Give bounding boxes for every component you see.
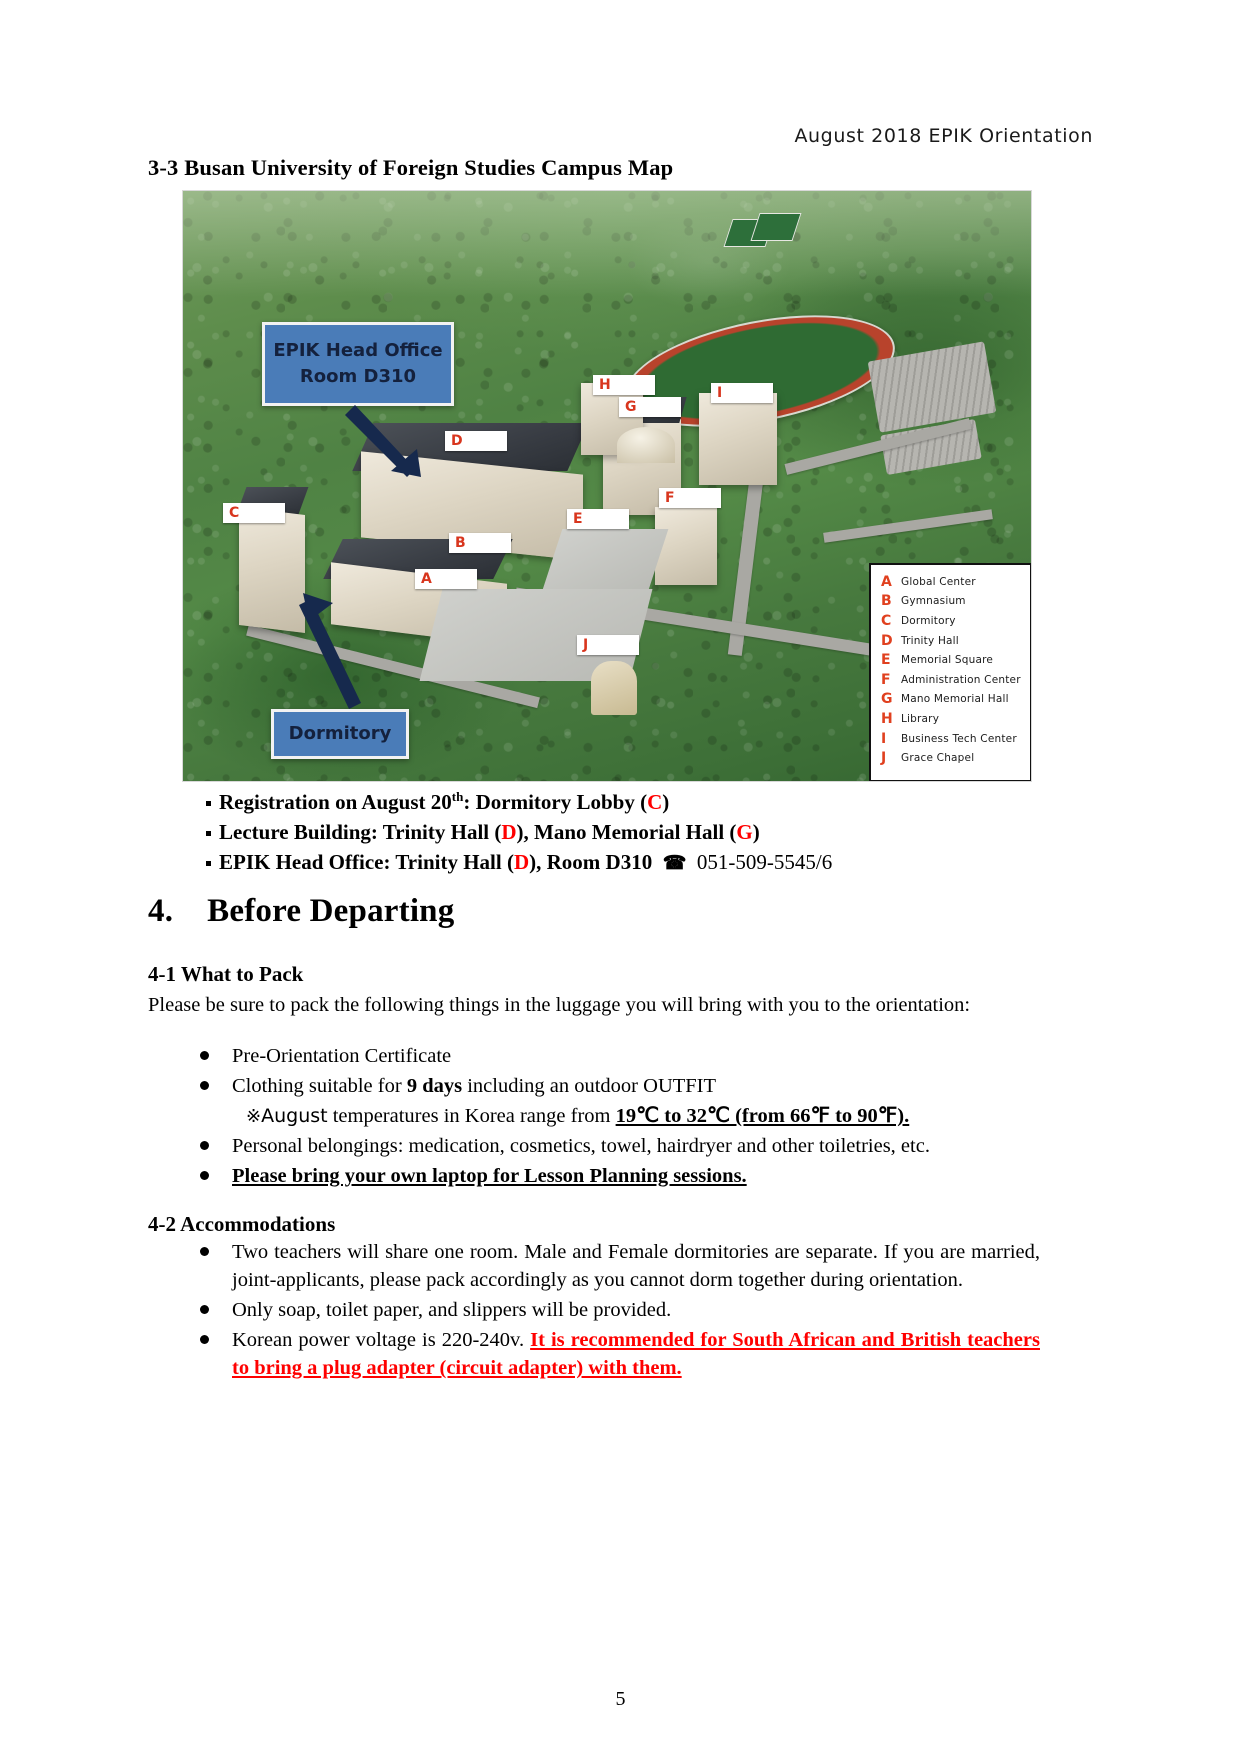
map-bullet-lecture: Lecture Building: Trinity Hall (D), Mano… — [206, 818, 832, 848]
legend-name: Grace Chapel — [901, 752, 974, 764]
office-label: EPIK Head Office: Trinity Hall ( — [219, 850, 514, 874]
accommodation-item-supplies: Only soap, toilet paper, and slippers wi… — [232, 1299, 671, 1321]
round-bullet-icon — [200, 1335, 209, 1344]
list-item: Korean power voltage is 220-240v. It is … — [190, 1326, 1040, 1382]
map-info-bullets: Registration on August 20th: Dormitory L… — [206, 788, 832, 878]
legend-letter: J — [881, 750, 901, 766]
round-bullet-icon — [200, 1305, 209, 1314]
map-marker-letter: F — [665, 491, 675, 505]
map-marker-b: B — [449, 533, 511, 553]
callout-dormitory-label: Dormitory — [289, 721, 392, 747]
lecture-close: ) — [753, 820, 760, 844]
clothing-pre: Clothing suitable for — [232, 1075, 407, 1097]
legend-letter: G — [881, 691, 901, 707]
chapter-title: Before Departing — [207, 893, 454, 929]
callout-epik-head-office: EPIK Head Office Room D310 — [262, 322, 454, 406]
legend-row: C Dormitory — [881, 611, 1030, 631]
round-bullet-icon — [200, 1081, 209, 1090]
map-haze — [183, 191, 1031, 297]
administration-center — [655, 507, 717, 585]
legend-letter: H — [881, 711, 901, 727]
map-marker-e: E — [567, 509, 629, 529]
note-august: August — [261, 1105, 328, 1127]
campus-map-image: EPIK Head Office Room D310 Dormitory H — [182, 190, 1032, 782]
legend-row: A Global Center — [881, 572, 1030, 592]
map-marker-i: I — [711, 383, 773, 403]
page-content: August 2018 EPIK Orientation 3-3 Busan U… — [148, 0, 1093, 1754]
legend-name: Global Center — [901, 576, 976, 588]
reference-mark-icon: ※ — [246, 1106, 261, 1127]
document-page: August 2018 EPIK Orientation 3-3 Busan U… — [0, 0, 1241, 1754]
registration-close: ) — [662, 790, 669, 814]
list-item: Two teachers will share one room. Male a… — [190, 1238, 1040, 1294]
round-bullet-icon — [200, 1247, 209, 1256]
map-bullet-registration: Registration on August 20th: Dormitory L… — [206, 788, 832, 818]
legend-letter: I — [881, 731, 901, 747]
list-item: Clothing suitable for 9 days including a… — [190, 1072, 1040, 1130]
legend-name: Library — [901, 713, 939, 725]
grace-chapel — [591, 661, 637, 715]
pack-intro-paragraph: Please be sure to pack the following thi… — [148, 992, 1028, 1020]
lecture-code-d: D — [501, 820, 516, 844]
legend-name: Dormitory — [901, 615, 956, 627]
chapter-number: 4. — [148, 893, 173, 929]
round-bullet-icon — [200, 1171, 209, 1180]
legend-letter: A — [881, 574, 901, 590]
list-item: Please bring your own laptop for Lesson … — [190, 1162, 1040, 1190]
list-item: Only soap, toilet paper, and slippers wi… — [190, 1296, 1040, 1324]
pack-temperature-note: ※August temperatures in Korea range from… — [232, 1102, 1040, 1130]
legend-letter: B — [881, 593, 901, 609]
pack-item-certificate: Pre-Orientation Certificate — [232, 1045, 451, 1067]
square-bullet-icon — [206, 861, 211, 866]
rotunda-dome — [617, 427, 675, 463]
page-number: 5 — [148, 1688, 1093, 1711]
legend-name: Mano Memorial Hall — [901, 693, 1009, 705]
arrow-dormitory-to-building-c — [281, 591, 391, 721]
legend-row: J Grace Chapel — [881, 748, 1030, 768]
map-marker-g: G — [619, 397, 681, 417]
list-item: Personal belongings: medication, cosmeti… — [190, 1132, 1040, 1160]
clothing-post: including an outdoor OUTFIT — [462, 1075, 716, 1097]
map-marker-c: C — [223, 503, 285, 523]
map-marker-h: H — [593, 375, 655, 395]
voltage-pre: Korean power voltage is 220-240v. — [232, 1329, 530, 1351]
legend-row: I Business Tech Center — [881, 729, 1030, 749]
legend-row: G Mano Memorial Hall — [881, 690, 1030, 710]
map-marker-j: J — [577, 635, 639, 655]
lecture-code-g: G — [736, 820, 752, 844]
office-mid: ), Room D310 — [529, 850, 652, 874]
office-code-d: D — [514, 850, 529, 874]
legend-letter: D — [881, 633, 901, 649]
registration-code: C — [647, 790, 662, 814]
running-header: August 2018 EPIK Orientation — [794, 125, 1093, 147]
legend-row: D Trinity Hall — [881, 631, 1030, 651]
accommodation-item-voltage: Korean power voltage is 220-240v. It is … — [232, 1326, 1040, 1382]
registration-rest: : Dormitory Lobby ( — [463, 790, 647, 814]
business-tech-center — [699, 393, 777, 485]
legend-name: Administration Center — [901, 674, 1021, 686]
map-marker-f: F — [659, 488, 721, 508]
map-marker-letter: H — [599, 378, 611, 392]
note-temperature-range: 19℃ to 32℃ (from 66℉ to 90℉). — [616, 1105, 910, 1127]
pack-item-personal: Personal belongings: medication, cosmeti… — [232, 1135, 930, 1157]
square-bullet-icon — [206, 831, 211, 836]
map-marker-letter: I — [717, 386, 722, 400]
accommodations-bullet-list: Two teachers will share one room. Male a… — [190, 1238, 1040, 1384]
map-marker-letter: A — [421, 572, 432, 586]
legend-name: Business Tech Center — [901, 733, 1017, 745]
round-bullet-icon — [200, 1141, 209, 1150]
map-marker-a: A — [415, 569, 477, 589]
map-marker-d: D — [445, 431, 507, 451]
legend-name: Gymnasium — [901, 595, 966, 607]
legend-name: Memorial Square — [901, 654, 993, 666]
map-marker-letter: B — [455, 536, 466, 550]
heading-4-1-what-to-pack: 4-1 What to Pack — [148, 962, 303, 987]
legend-row: H Library — [881, 709, 1030, 729]
arrow-epik-to-trinity — [335, 397, 455, 517]
map-marker-letter: D — [451, 434, 463, 448]
phone-number: 051-509-5545/6 — [697, 850, 832, 874]
heading-4-2-accommodations: 4-2 Accommodations — [148, 1212, 335, 1237]
accommodation-item-sharing: Two teachers will share one room. Male a… — [232, 1238, 1040, 1294]
note-pre: temperatures in Korea range from — [328, 1105, 616, 1127]
callout-epik-line1: EPIK Head Office — [273, 338, 442, 364]
legend-row: E Memorial Square — [881, 650, 1030, 670]
map-legend: A Global Center B Gymnasium C Dormitory … — [869, 563, 1032, 782]
registration-ordinal: th — [452, 789, 464, 804]
lecture-mid: ), Mano Memorial Hall ( — [517, 820, 737, 844]
map-marker-letter: E — [573, 512, 583, 526]
pack-item-clothing: Clothing suitable for 9 days including a… — [232, 1075, 716, 1097]
legend-name: Trinity Hall — [901, 635, 959, 647]
legend-row: F Administration Center — [881, 670, 1030, 690]
callout-epik-line2: Room D310 — [300, 364, 416, 390]
map-marker-letter: C — [229, 506, 239, 520]
chapter-heading-4: 4.Before Departing — [148, 893, 454, 930]
registration-label: Registration on August 20 — [219, 790, 452, 814]
map-marker-letter: J — [583, 638, 588, 652]
section-heading-3-3: 3-3 Busan University of Foreign Studies … — [148, 155, 673, 181]
pack-bullet-list: Pre-Orientation Certificate Clothing sui… — [190, 1042, 1040, 1192]
legend-letter: E — [881, 652, 901, 668]
legend-row: B Gymnasium — [881, 592, 1030, 612]
clothing-days: 9 days — [407, 1075, 462, 1097]
map-marker-letter: G — [625, 400, 637, 414]
map-bullet-office: EPIK Head Office: Trinity Hall (D), Room… — [206, 848, 832, 878]
list-item: Pre-Orientation Certificate — [190, 1042, 1040, 1070]
telephone-icon: ☎ — [663, 853, 687, 874]
legend-letter: C — [881, 613, 901, 629]
square-bullet-icon — [206, 801, 211, 806]
pack-item-laptop: Please bring your own laptop for Lesson … — [232, 1165, 747, 1187]
legend-letter: F — [881, 672, 901, 688]
round-bullet-icon — [200, 1051, 209, 1060]
lecture-label: Lecture Building: Trinity Hall ( — [219, 820, 501, 844]
